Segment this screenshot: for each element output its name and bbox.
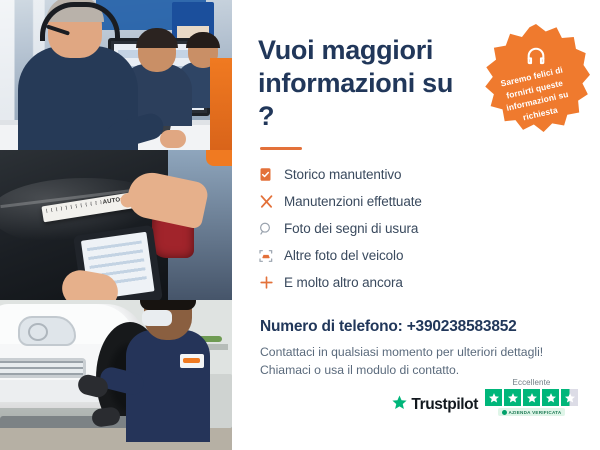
orange-column [210,58,232,150]
car-headlight [18,316,76,346]
callout-badge: Saremo felici di fornirti queste informa… [482,24,590,132]
car-grille [0,358,86,378]
list-item: E molto altro ancora [258,270,574,296]
magnifier-icon [258,221,284,237]
car-focus-icon [258,248,284,264]
call-center-photo [0,0,232,150]
list-item: Manutenzioni effettuate [258,189,574,215]
status-badge: AZIENDA VERIFICATA [498,408,566,416]
orange-corner [206,150,232,166]
rating-label: Eccellente [513,378,551,387]
trustpilot-rating[interactable]: Trustpilot Eccellente AZIENDA VERIFICATA [391,378,578,416]
phone-number: Numero di telefono: +390238583852 [260,318,574,336]
mechanic-hair [140,300,196,310]
star-5-half [561,389,578,406]
mechanic [126,330,210,442]
verified-label: AZIENDA VERIFICATA [509,410,562,415]
star-1 [485,389,502,406]
star-icon [391,394,408,416]
trustpilot-logo[interactable]: Trustpilot [391,394,478,416]
contact-subtext-line-2: Chiamaci o usa il modulo di contatto. [260,363,459,377]
star-3 [523,389,540,406]
contact-subtext: Contattaci in qualsiasi momento per ulte… [260,344,574,379]
star-rating [485,389,578,406]
trustpilot-name: Trustpilot [411,396,478,414]
photo-strip: AUTOscout [0,0,232,450]
feature-list: Storico manutentivo Manutenzioni effettu… [258,162,574,296]
tools-cross-icon [258,193,284,210]
page-title: Vuoi maggiori informazioni su ? [258,34,473,133]
list-item-label: Storico manutentivo [284,167,401,182]
uniform-logo-patch [180,354,204,368]
agent-1 [18,46,138,150]
contact-subtext-line-1: Contattaci in qualsiasi momento per ulte… [260,345,543,359]
trustpilot-score-block: Eccellente AZIENDA VERIFICATA [485,378,578,416]
wheel-inspection-photo [0,300,232,450]
plus-icon [258,274,284,291]
clipboard-check-icon [258,167,284,182]
mechanic-face-mask [142,310,172,326]
list-item-label: Altre foto del veicolo [284,248,403,263]
list-item: Foto dei segni di usura [258,216,574,242]
agent-1-hand [160,130,186,148]
star-2 [504,389,521,406]
content-panel: Vuoi maggiori informazioni su ? Storico … [232,0,600,450]
promo-banner: AUTOscout [0,0,600,450]
list-item: Storico manutentivo [258,162,574,188]
verified-check-icon [502,410,507,415]
list-item: Altre foto del veicolo [258,243,574,269]
star-4 [542,389,559,406]
title-divider [260,147,302,150]
list-item-label: Foto dei segni di usura [284,221,418,236]
list-item-label: E molto altro ancora [284,275,403,290]
list-item-label: Manutenzioni effettuate [284,194,422,209]
damage-inspection-photo: AUTOscout [0,150,232,300]
